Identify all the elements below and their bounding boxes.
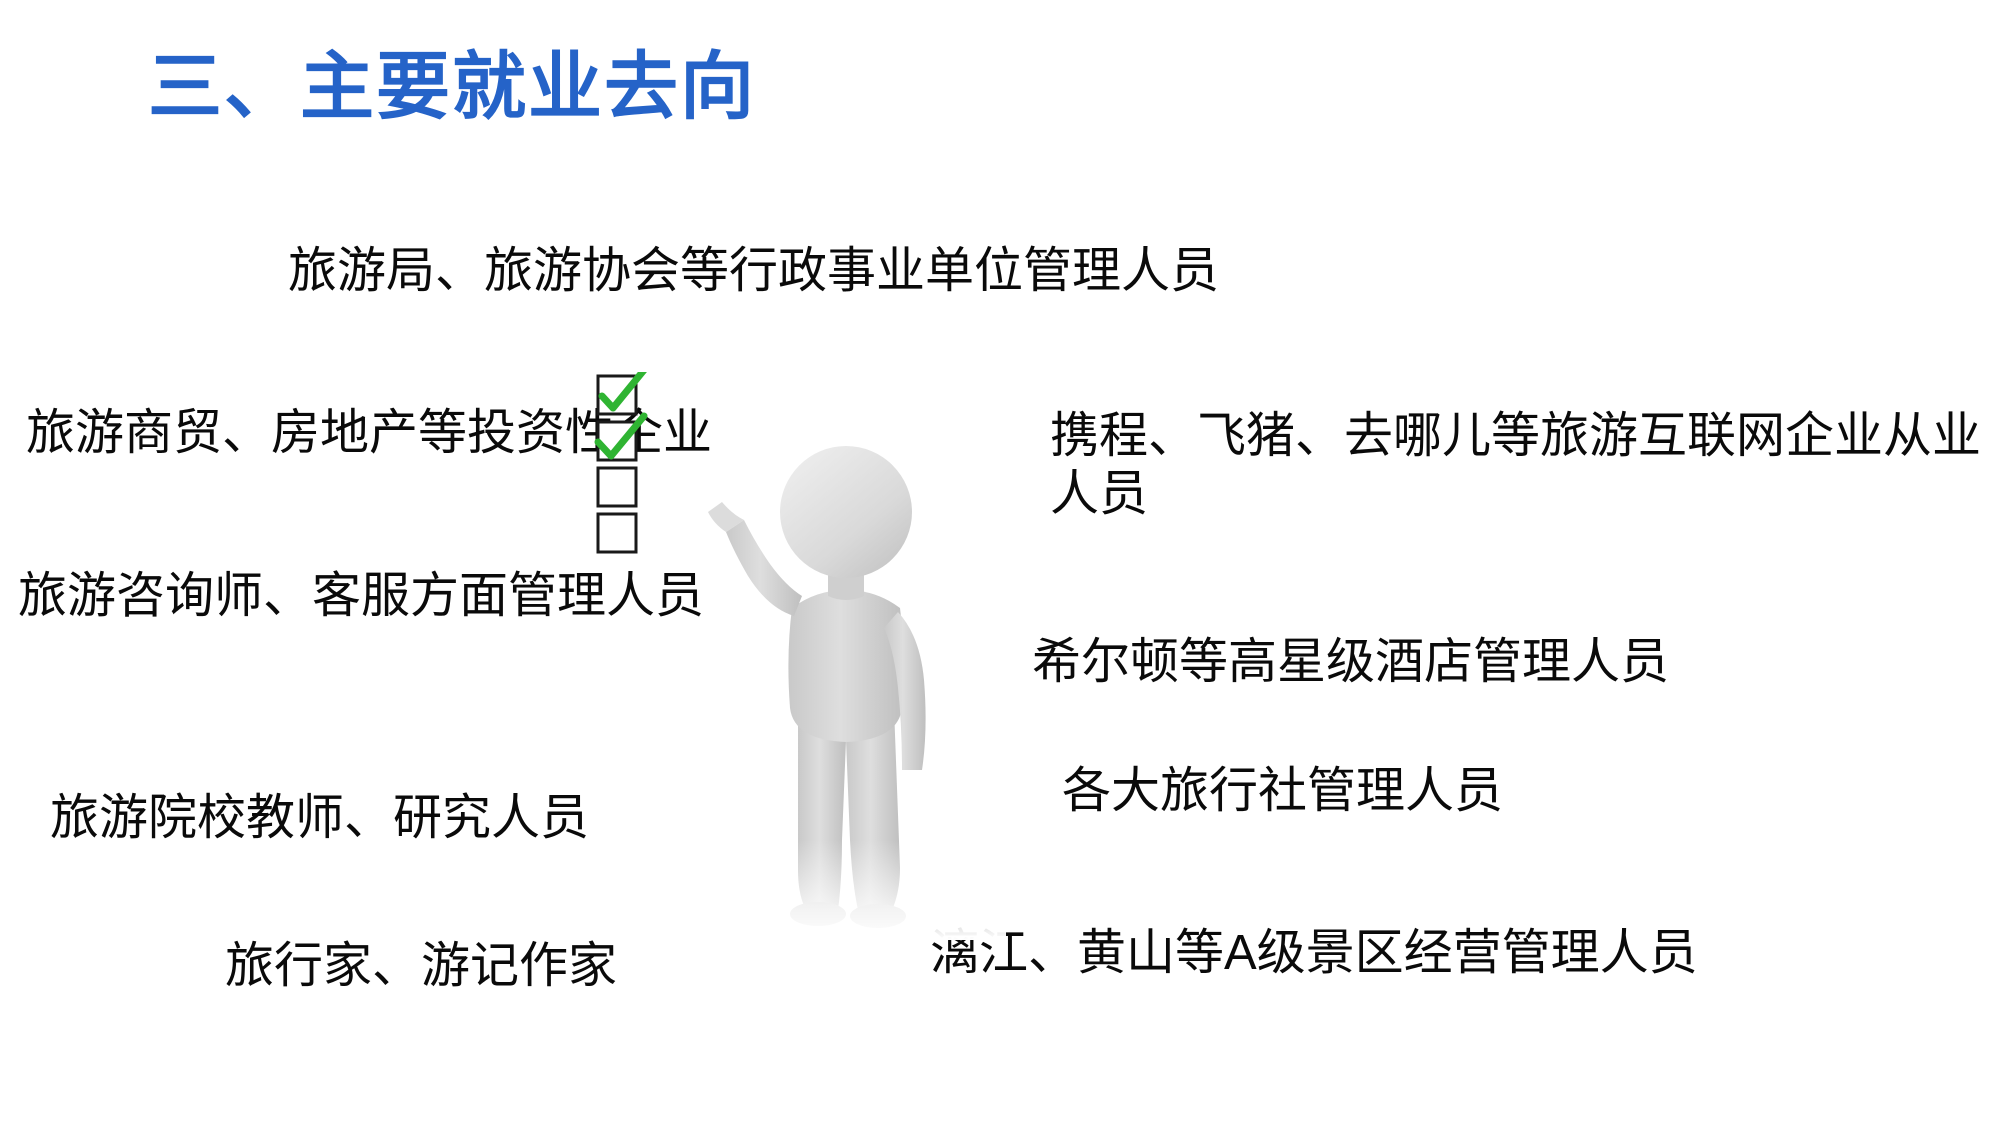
left-career-item-4: 旅行家、游记作家	[225, 938, 925, 996]
checklist-mannequin-illustration	[706, 440, 1006, 940]
slide-canvas: 三、主要就业去向 旅游局、旅游协会等行政事业单位管理人员 旅游商贸、房地产等投资…	[0, 0, 2010, 1125]
mannequin-head	[780, 446, 912, 578]
left-career-item-2: 旅游咨询师、客服方面管理人员	[18, 568, 718, 626]
right-career-item-4: 漓江、黄山等A级景区经营管理人员	[930, 925, 1990, 983]
right-career-item-1: 携程、飞猪、去哪儿等旅游互联网企业从业人员	[1050, 408, 2010, 524]
right-career-item-3: 各大旅行社管理人员	[1062, 763, 1962, 821]
page-title: 三、主要就业去向	[148, 44, 756, 129]
right-career-item-2: 希尔顿等高星级酒店管理人员	[1032, 634, 1932, 692]
checkbox-1	[598, 372, 644, 414]
checkbox-4	[598, 514, 636, 552]
mannequin-torso	[788, 590, 903, 742]
lead-career-item: 旅游局、旅游协会等行政事业单位管理人员	[288, 243, 1408, 301]
checkbox-2	[598, 416, 644, 460]
left-career-item-3: 旅游院校教师、研究人员	[50, 790, 750, 848]
checkbox-3	[598, 468, 636, 506]
checklist-boxes	[588, 372, 658, 562]
